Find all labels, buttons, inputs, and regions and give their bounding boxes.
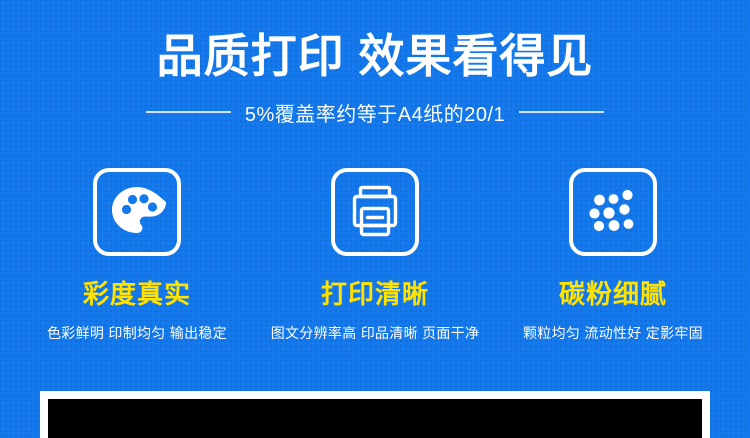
feature-item-toner: 碳粉细腻 颗粒均匀 流动性好 定影牢固 — [494, 168, 732, 343]
feature-desc-color: 色彩鲜明 印制均匀 输出稳定 — [47, 323, 227, 343]
divider-line-right — [519, 111, 604, 113]
feature-title-print: 打印清晰 — [321, 274, 429, 311]
subtitle-row: 5%覆盖率约等于A4纸的20/1 — [0, 99, 750, 125]
promo-poster: 品质打印 效果看得见 5%覆盖率约等于A4纸的20/1 彩度真实 色彩鲜明 印制… — [0, 0, 750, 438]
feature-title-toner: 碳粉细腻 — [559, 274, 667, 311]
divider-line-left — [146, 111, 231, 113]
feature-item-print: 打印清晰 图文分辨率高 印品清晰 页面干净 — [256, 168, 494, 343]
palette-icon-box — [93, 168, 181, 256]
palette-icon — [106, 181, 168, 243]
page-title: 品质打印 效果看得见 — [0, 28, 750, 86]
printer-icon-box — [331, 168, 419, 256]
toner-dots-icon — [582, 181, 644, 243]
toner-dots-icon-box — [569, 168, 657, 256]
feature-list: 彩度真实 色彩鲜明 印制均匀 输出稳定 打印清晰 图文分辨率高 印品清晰 页面干… — [0, 168, 750, 343]
printer-icon — [344, 181, 406, 243]
feature-title-color: 彩度真实 — [83, 274, 191, 311]
feature-item-color: 彩度真实 色彩鲜明 印制均匀 输出稳定 — [18, 168, 256, 343]
feature-desc-print: 图文分辨率高 印品清晰 页面干净 — [271, 323, 480, 343]
media-placeholder — [48, 399, 702, 438]
feature-desc-toner: 颗粒均匀 流动性好 定影牢固 — [523, 323, 703, 343]
media-frame — [40, 391, 710, 438]
page-subtitle: 5%覆盖率约等于A4纸的20/1 — [245, 98, 505, 127]
